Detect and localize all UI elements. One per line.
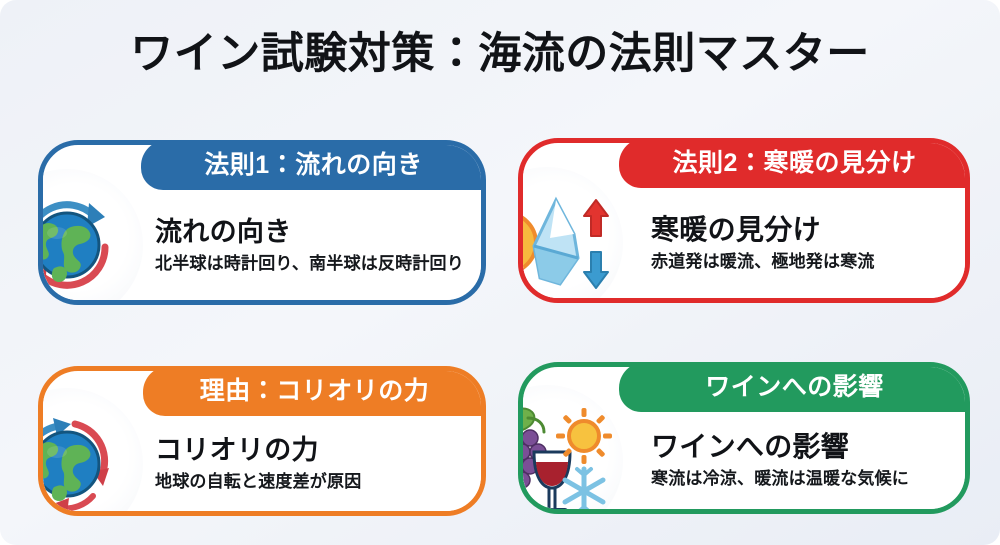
card-text-column: コリオリの力 地球の自転と速度差が原因	[155, 416, 465, 511]
card-body: 流れの向き 北半球は時計回り、南半球は反時計回り	[43, 190, 481, 300]
sun-iceberg-arrows-icon	[518, 167, 623, 303]
card-text-column: 寒暖の見分け 赤道発は暖流、極地発は寒流	[651, 188, 949, 298]
card-reason-coriolis[interactable]: 理由：コリオリの力	[38, 366, 486, 516]
card-title: 寒暖の見分け	[651, 213, 949, 247]
card-text-column: ワインへの影響 寒流は冷涼、暖流は温暖な気候に	[651, 412, 949, 509]
card-text-column: 流れの向き 北半球は時計回り、南半球は反時計回り	[155, 190, 465, 300]
card-description: 北半球は時計回り、南半球は反時計回り	[155, 252, 465, 276]
card-impact-on-wine[interactable]: ワインへの影響	[518, 362, 970, 514]
card-header-label: 法則1：流れの向き	[141, 140, 486, 190]
card-law-2-warm-cold[interactable]: 法則2：寒暖の見分け	[518, 138, 970, 303]
card-body: コリオリの力 地球の自転と速度差が原因	[43, 416, 481, 511]
globe-rotation-icon	[38, 169, 143, 305]
infographic-page: ワイン試験対策：海流の法則マスター 法則1：流れの向き	[0, 0, 1000, 545]
card-law-1-current-direction[interactable]: 法則1：流れの向き	[38, 140, 486, 305]
card-title: 流れの向き	[155, 215, 465, 249]
card-title: コリオリの力	[155, 433, 465, 467]
card-body: 寒暖の見分け 赤道発は暖流、極地発は寒流	[523, 188, 965, 298]
card-header-label: 法則2：寒暖の見分け	[619, 138, 970, 188]
page-title: ワイン試験対策：海流の法則マスター	[0, 26, 1000, 82]
card-description: 赤道発は暖流、極地発は寒流	[651, 250, 949, 274]
card-description: 寒流は冷涼、暖流は温暖な気候に	[651, 467, 949, 491]
globe-coriolis-icon	[38, 388, 143, 517]
card-header-label: ワインへの影響	[619, 362, 970, 412]
grapes-wine-sun-snowflake-icon	[518, 385, 623, 515]
card-title: ワインへの影響	[651, 430, 949, 464]
card-description: 地球の自転と速度差が原因	[155, 470, 465, 494]
card-body: ワインへの影響 寒流は冷涼、暖流は温暖な気候に	[523, 412, 965, 509]
card-header-label: 理由：コリオリの力	[143, 366, 486, 416]
